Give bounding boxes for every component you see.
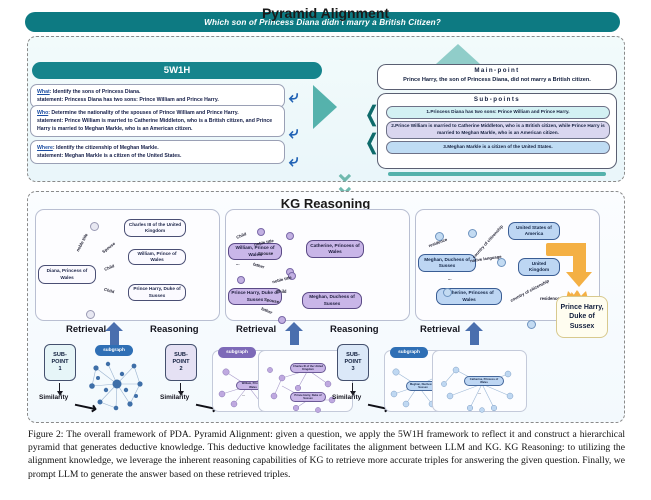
step-label-reasoning: Reasoning <box>330 324 379 335</box>
w5h-statement-what: statement: Princess Diana has two sons: … <box>37 96 278 104</box>
figure-caption: Figure 2: The overall framework of PDA. … <box>28 428 625 481</box>
kg-edge-label: Child <box>276 289 286 294</box>
kg-node-charles: Charles III of the United Kingdom <box>124 219 186 237</box>
subpoint-card-3: SUB- POINT 3 <box>337 344 369 381</box>
sub-points-box: Sub-points 1.Princess Diana has two sons… <box>377 93 617 169</box>
reasoning-ellipsis: ... <box>242 393 245 397</box>
kg-circle-node <box>90 222 99 231</box>
blue-curved-arrow-icon: ⤷ <box>289 88 299 105</box>
figure-container: Which son of Princess Diana didn't marry… <box>0 0 651 500</box>
step-label-reasoning: Reasoning <box>150 324 199 335</box>
kg-edge-ellipsis: ... <box>236 261 240 266</box>
kg-circle-node <box>468 229 477 238</box>
subpoint-card-line: SUB- <box>346 352 360 359</box>
5w1h-header: 5W1H <box>32 62 322 79</box>
w5h-card-where: Where: Identify the citizenship of Megha… <box>30 140 285 164</box>
step-label-retrieval: Retrieval <box>420 324 460 335</box>
sub-point-1: 1.Princess Diana has two sons: Prince Wi… <box>386 106 610 119</box>
main-point-title: Main-point <box>378 67 616 74</box>
main-point-box: Main-point Prince Harry, the son of Prin… <box>377 64 617 90</box>
blue-curved-arrow-icon: ⤷ <box>289 124 299 141</box>
retrieval-node-harry: Prince Harry, Duke of Sussex <box>290 392 326 402</box>
down-chevron-icon: ⌄⌄ <box>334 166 354 192</box>
kg-circle-node <box>497 258 506 267</box>
teal-chevron-left-icon: ❬ <box>363 104 381 125</box>
similarity-tick-icon <box>352 383 353 392</box>
w5h-question-who: : Determine the nationality of the spous… <box>48 110 238 116</box>
subpoint-card-line: POINT <box>344 359 361 366</box>
step-label-retrieval: Retrieval <box>66 324 106 335</box>
blue-curved-arrow-icon: ⤷ <box>289 152 299 169</box>
retrieval-ellipsis: ... <box>478 391 481 395</box>
kg-edge-ellipsis: ... <box>448 276 452 281</box>
orange-arrow-stem <box>573 243 586 274</box>
similarity-label: Similarity <box>160 394 189 401</box>
w5h-card-who: Who: Determine the nationality of the sp… <box>30 105 285 137</box>
subgraph-pill: subgraph <box>95 345 133 356</box>
subpoint-card-1: SUB- POINT 1 <box>44 344 76 381</box>
sub-point-3: 3.Meghan Markle is a citizen of the Unit… <box>386 141 610 154</box>
w5h-question-what: : Identify the sons of Princess Diana. <box>50 89 141 95</box>
retrieval-node-charles: Charles III of the United Kingdom <box>290 363 326 373</box>
subpoint-card-line: 1 <box>58 366 61 373</box>
pyramid-alignment-title: Pyramid Alignment <box>0 5 651 21</box>
up-arrow-icon <box>290 330 299 345</box>
kg-circle-node <box>286 232 294 240</box>
kg-circle-node <box>257 228 265 236</box>
kg-node-meghan: Meghan, Duchess of Sussex <box>418 254 476 272</box>
teal-chevron-left-icon: ❬ <box>363 132 381 153</box>
w5h-question-where: : Identify the citizenship of Meghan Mar… <box>53 145 159 151</box>
teal-triangle-icon <box>313 85 337 129</box>
sub-points-title: Sub-points <box>378 96 616 103</box>
kg-circle-node <box>86 310 95 319</box>
orange-arrow-head-icon <box>566 272 592 287</box>
subgraph-pill: subgraph <box>218 347 256 358</box>
subpoint-card-line: 3 <box>351 366 354 373</box>
subpoint-card-2: SUB- POINT 2 <box>165 344 197 381</box>
kg-node-diana: Diana, Princess of Wales <box>38 265 96 284</box>
up-arrow-icon <box>110 330 119 345</box>
kg-circle-node <box>237 276 245 284</box>
subgraph-cluster-1 <box>86 356 148 414</box>
subpoint-card-line: SUB- <box>53 352 67 359</box>
up-arrow-icon <box>470 330 479 345</box>
w5h-key-where: Where <box>37 145 53 151</box>
w5h-statement-who: statement: Prince William is married to … <box>37 117 278 133</box>
w5h-key-what: What <box>37 89 50 95</box>
kg-node-prince-harry: Prince Harry, Duke of Sussex <box>128 284 186 301</box>
kg-node-usa: United States of America <box>508 222 560 240</box>
final-answer-box: Prince Harry, Duke of Sussex <box>556 296 608 338</box>
subpoint-card-line: SUB- <box>174 352 188 359</box>
w5h-key-who: Who <box>37 110 48 116</box>
subpoint-card-line: 2 <box>179 366 182 373</box>
kg-edge-label: Spouse <box>258 251 273 256</box>
kg-node-william: William, Prince of Wales <box>128 249 186 265</box>
subpoint-card-line: POINT <box>51 359 68 366</box>
subgraph-pill: subgraph <box>390 347 428 358</box>
main-point-text: Prince Harry, the son of Princess Diana,… <box>378 77 616 83</box>
retrieval-node-catherine: Catherine, Princess of Wales <box>464 376 504 386</box>
similarity-label: Similarity <box>39 394 68 401</box>
pyramid-base-bar <box>388 172 606 176</box>
step-label-retrieval: Retrieval <box>236 324 276 335</box>
w5h-statement-where: statement: Meghan Markle is a citizen of… <box>37 152 278 160</box>
kg-node-meghan: Meghan, Duchess of Sussex <box>302 292 362 309</box>
similarity-tick-icon <box>59 383 60 392</box>
sub-point-2: 2.Prince William is married to Catherine… <box>386 121 610 139</box>
pyramid-apex-icon <box>436 44 480 64</box>
similarity-tick-icon <box>180 383 181 392</box>
kg-circle-node <box>443 288 452 297</box>
kg-node-uk: United Kingdom <box>518 258 560 276</box>
kg-node-catherine: Catherine, Princess of Wales <box>306 240 364 258</box>
kg-circle-node <box>527 320 536 329</box>
subpoint-card-line: POINT <box>172 359 189 366</box>
similarity-label: Similarity <box>332 394 361 401</box>
